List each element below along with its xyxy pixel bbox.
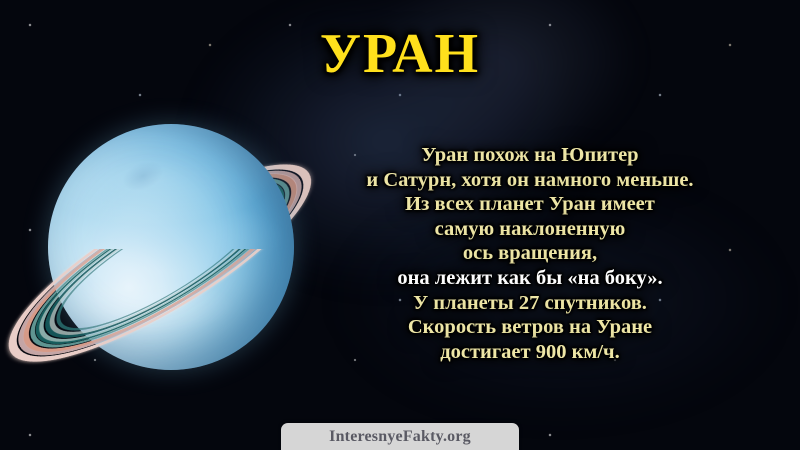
planet-sphere: [48, 124, 294, 370]
fact-line: Уран похож на Юпитер: [330, 143, 730, 168]
page-title: УРАН: [270, 22, 530, 86]
watermark-label: InteresnyeFakty.org: [329, 428, 471, 446]
fact-line: достигает 900 км/ч.: [330, 340, 730, 365]
planet-cloud-bands: [48, 124, 294, 370]
watermark-badge: InteresnyeFakty.org: [281, 423, 519, 450]
fact-text-block: Уран похож на Юпитер и Сатурн, хотя он н…: [330, 143, 730, 364]
uranus-fact-card: УРАН Уран похож на Юпитер и Сатурн, хотя…: [0, 0, 800, 450]
uranus-planet: [0, 88, 330, 438]
fact-line: Скорость ветров на Уране: [330, 315, 730, 340]
fact-line: У планеты 27 спутников.: [330, 291, 730, 316]
fact-line: ось вращения,: [330, 241, 730, 266]
fact-line: и Сатурн, хотя он намного меньше.: [330, 168, 730, 193]
fact-line: Из всех планет Уран имеет: [330, 192, 730, 217]
fact-line-highlight: она лежит как бы «на боку».: [330, 266, 730, 291]
fact-line: самую наклоненную: [330, 217, 730, 242]
